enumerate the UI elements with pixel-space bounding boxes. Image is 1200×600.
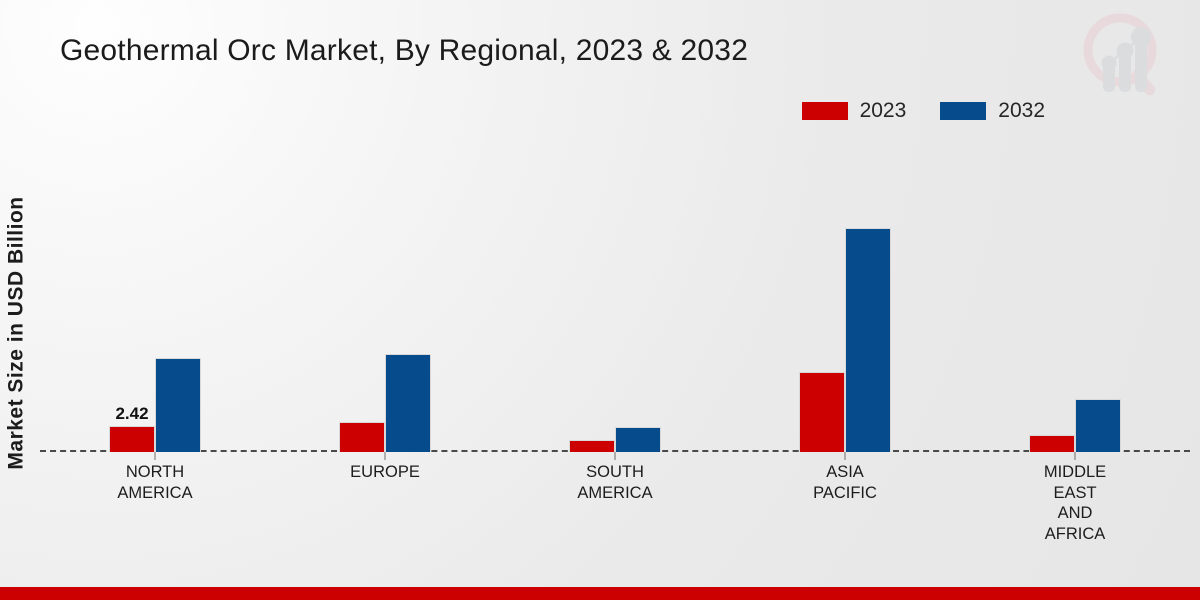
bar-pair: [1029, 399, 1121, 452]
bar-2023[interactable]: [799, 372, 845, 452]
bar-group: 2.42NORTH AMERICA: [40, 140, 270, 452]
x-axis-category-label: SOUTH AMERICA: [577, 462, 652, 503]
bar-2032[interactable]: [1075, 399, 1121, 452]
bar-pair: [799, 228, 891, 452]
bar-chart-icon: [1102, 27, 1152, 92]
bar-group: ASIA PACIFIC: [730, 140, 960, 452]
x-axis-tick: [155, 452, 156, 460]
x-axis-category-label: MIDDLE EAST AND AFRICA: [1044, 462, 1106, 545]
footer-accent-bar: [0, 587, 1200, 600]
bar-2023[interactable]: [1029, 435, 1075, 452]
plot-area: 2.42NORTH AMERICAEUROPESOUTH AMERICAASIA…: [40, 140, 1190, 452]
page-title: Geothermal Orc Market, By Regional, 2023…: [60, 34, 748, 68]
x-axis-tick: [1075, 452, 1076, 460]
chart-legend: 2023 2032: [802, 100, 1045, 121]
legend-item-2023[interactable]: 2023: [802, 100, 907, 121]
x-axis-tick: [845, 452, 846, 460]
bar-groups: 2.42NORTH AMERICAEUROPESOUTH AMERICAASIA…: [40, 140, 1190, 452]
bar-group: SOUTH AMERICA: [500, 140, 730, 452]
x-axis-category-label: NORTH AMERICA: [117, 462, 192, 503]
bar-2032[interactable]: [845, 228, 891, 452]
x-axis-category-label: EUROPE: [350, 462, 420, 483]
bar-2023[interactable]: [339, 422, 385, 452]
bar-2023[interactable]: [569, 440, 615, 452]
bar-2032[interactable]: [385, 354, 431, 452]
bar-value-label: 2.42: [115, 404, 148, 424]
bar-pair: [569, 427, 661, 452]
bar-2032[interactable]: [155, 358, 201, 452]
legend-label-2032: 2032: [998, 100, 1045, 121]
x-axis-tick: [385, 452, 386, 460]
legend-swatch-2032: [940, 102, 986, 120]
y-axis-title-text: Market Size in USD Billion: [5, 196, 29, 469]
y-axis-title: Market Size in USD Billion: [0, 168, 35, 498]
legend-label-2023: 2023: [860, 100, 907, 121]
watermark-logo: [1068, 6, 1178, 102]
x-axis-tick: [615, 452, 616, 460]
bar-2032[interactable]: [615, 427, 661, 452]
x-axis-category-label: ASIA PACIFIC: [813, 462, 877, 503]
bar-group: EUROPE: [270, 140, 500, 452]
bar-pair: [339, 354, 431, 452]
bar-2023[interactable]: 2.42: [109, 426, 155, 452]
bar-pair: 2.42: [109, 358, 201, 452]
legend-swatch-2023: [802, 102, 848, 120]
legend-item-2032[interactable]: 2032: [940, 100, 1045, 121]
bar-group: MIDDLE EAST AND AFRICA: [960, 140, 1190, 452]
